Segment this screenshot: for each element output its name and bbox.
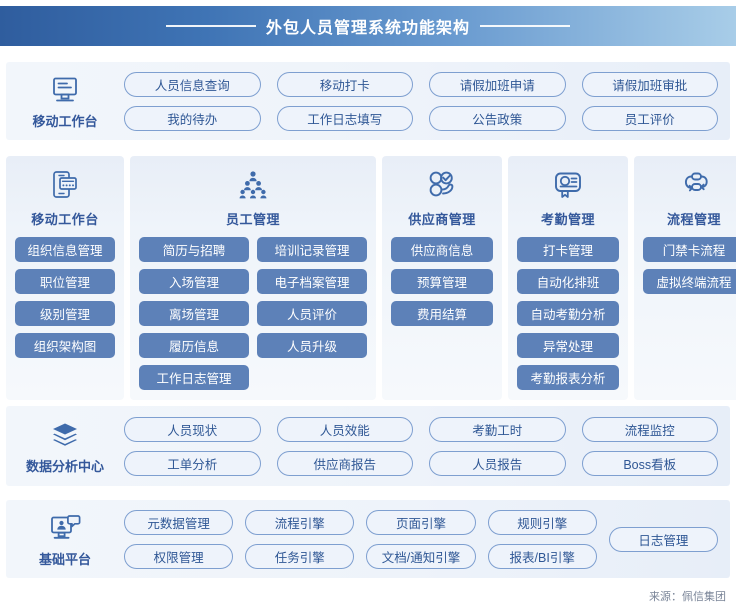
pill-item[interactable]: 员工评价 [582,106,719,131]
card-item-list: 打卡管理 自动化排班 自动考勤分析 异常处理 考勤报表分析 [517,237,619,390]
pill-item[interactable]: 门禁卡流程 [643,237,736,262]
card-item-list: 简历与招聘 培训记录管理 入场管理 电子档案管理 离场管理 人员评价 履历信息 … [139,237,367,390]
pill-item[interactable]: 移动打卡 [277,72,414,97]
layers-icon [50,418,80,452]
pill-item[interactable]: 人员效能 [277,417,414,442]
foundation-platform-items: 元数据管理 流程引擎 页面引擎 规则引擎 日志管理 权限管理 任务引擎 文档/通… [124,500,722,578]
card-mobile-workbench: 移动工作台 组织信息管理 职位管理 级别管理 组织架构图 [6,156,124,400]
card-title: 流程管理 [667,209,721,228]
pill-item[interactable]: 级别管理 [15,301,115,326]
architecture-diagram-page: 外包人员管理系统功能架构 移动工作台 人员信息查询 移动打卡 请假加班申请 请假… [0,0,736,614]
section-mobile-workbench-label: 移动工作台 [32,111,97,130]
platform-monitor-icon [49,511,81,545]
pill-item[interactable]: 组织架构图 [15,333,115,358]
pill-item[interactable]: 自动化排班 [517,269,619,294]
pill-item[interactable]: 职位管理 [15,269,115,294]
pill-item[interactable]: 页面引擎 [366,510,475,535]
section-mobile-workbench-header: 移动工作台 [6,62,124,140]
section-data-analysis-header: 数据分析中心 [6,406,124,486]
pill-item[interactable]: 供应商信息 [391,237,493,262]
pill-item[interactable]: 异常处理 [517,333,619,358]
pill-item[interactable]: 费用结算 [391,301,493,326]
log-management-cell: 日志管理 [609,527,718,552]
data-analysis-items: 人员现状 人员效能 考勤工时 流程监控 工单分析 供应商报告 人员报告 Boss… [124,406,722,486]
pill-item[interactable]: 我的待办 [124,106,261,131]
pill-item[interactable]: 考勤报表分析 [517,365,619,390]
pill-item[interactable]: 电子档案管理 [257,269,367,294]
pill-item[interactable]: 自动考勤分析 [517,301,619,326]
pill-item[interactable]: 文档/通知引擎 [366,544,475,569]
card-supplier-management: 供应商管理 供应商信息 预算管理 费用结算 [382,156,502,400]
pill-item[interactable]: 预算管理 [391,269,493,294]
page-header: 外包人员管理系统功能架构 [0,6,736,46]
card-title: 供应商管理 [408,209,476,228]
pill-item[interactable]: 流程引擎 [245,510,354,535]
pill-item[interactable]: 打卡管理 [517,237,619,262]
pill-item[interactable]: 请假加班申请 [429,72,566,97]
pill-item[interactable]: 培训记录管理 [257,237,367,262]
process-flow-icon [678,168,710,202]
section-foundation-platform-header: 基础平台 [6,500,124,578]
pill-item[interactable]: 人员评价 [257,301,367,326]
header-rule-right [480,25,570,27]
pill-item[interactable]: 组织信息管理 [15,237,115,262]
pill-item[interactable]: 工作日志填写 [277,106,414,131]
header-inner: 外包人员管理系统功能架构 [166,14,570,38]
card-title: 移动工作台 [31,209,99,228]
pill-item[interactable]: 工作日志管理 [139,365,249,390]
mobile-workbench-items: 人员信息查询 移动打卡 请假加班申请 请假加班审批 我的待办 工作日志填写 公告… [124,62,722,140]
monitor-icon [50,73,80,107]
pill-item[interactable]: 离场管理 [139,301,249,326]
pill-item[interactable]: 供应商报告 [277,451,414,476]
card-item-list: 组织信息管理 职位管理 级别管理 组织架构图 [15,237,115,358]
card-process-management: 流程管理 门禁卡流程 虚拟终端流程 [634,156,736,400]
pill-item[interactable]: 元数据管理 [124,510,233,535]
page-title: 外包人员管理系统功能架构 [266,14,470,38]
pill-item[interactable]: 权限管理 [124,544,233,569]
org-people-icon [236,168,270,202]
pill-item[interactable]: 简历与招聘 [139,237,249,262]
pill-item[interactable]: Boss看板 [582,451,719,476]
card-item-list: 门禁卡流程 虚拟终端流程 [643,237,736,294]
card-item-list: 供应商信息 预算管理 费用结算 [391,237,493,326]
pill-item[interactable]: 任务引擎 [245,544,354,569]
pill-item[interactable]: 人员现状 [124,417,261,442]
section-data-analysis-center: 数据分析中心 人员现状 人员效能 考勤工时 流程监控 工单分析 供应商报告 人员… [6,406,730,486]
module-card-row: 移动工作台 组织信息管理 职位管理 级别管理 组织架构图 [6,156,730,392]
pill-item[interactable]: 虚拟终端流程 [643,269,736,294]
pill-item[interactable]: 规则引擎 [488,510,597,535]
pill-item[interactable]: 流程监控 [582,417,719,442]
pill-item[interactable]: 公告政策 [429,106,566,131]
section-foundation-platform: 基础平台 元数据管理 流程引擎 页面引擎 规则引擎 日志管理 权限管理 任务引擎… [6,500,730,578]
pill-item[interactable]: 人员报告 [429,451,566,476]
pill-item[interactable]: 履历信息 [139,333,249,358]
section-mobile-workbench: 移动工作台 人员信息查询 移动打卡 请假加班申请 请假加班审批 我的待办 工作日… [6,62,730,140]
attendance-certificate-icon [552,168,584,202]
pill-item[interactable]: 入场管理 [139,269,249,294]
section-data-analysis-label: 数据分析中心 [26,456,104,475]
card-title: 员工管理 [226,209,280,228]
card-title: 考勤管理 [541,209,595,228]
section-foundation-platform-label: 基础平台 [39,549,91,568]
pill-item[interactable]: 工单分析 [124,451,261,476]
pill-item[interactable]: 考勤工时 [429,417,566,442]
pill-item-log-management[interactable]: 日志管理 [609,527,718,552]
source-attribution: 来源：佩信集团 [649,588,726,604]
card-employee-management: 员工管理 简历与招聘 培训记录管理 入场管理 电子档案管理 离场管理 人员评价 … [130,156,376,400]
supplier-nodes-icon [426,168,458,202]
header-rule-left [166,25,256,27]
card-attendance-management: 考勤管理 打卡管理 自动化排班 自动考勤分析 异常处理 考勤报表分析 [508,156,628,400]
pill-item[interactable]: 人员升级 [257,333,367,358]
pill-item[interactable]: 请假加班审批 [582,72,719,97]
mobile-phone-icon [50,168,80,202]
pill-item[interactable]: 人员信息查询 [124,72,261,97]
pill-item[interactable]: 报表/BI引擎 [488,544,597,569]
